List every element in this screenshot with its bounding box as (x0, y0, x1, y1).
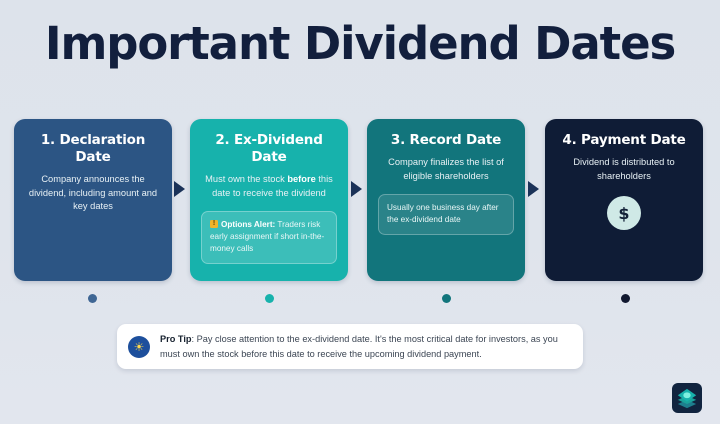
card-title: 4. Payment Date (556, 132, 692, 149)
card-title: 1. Declaration Date (25, 132, 161, 166)
warning-icon (210, 220, 218, 228)
arrow-right-icon-2 (351, 181, 362, 197)
infographic-canvas: Important Dividend Dates 1. Declaration … (0, 0, 720, 424)
card-title: 2. Ex-Dividend Date (201, 132, 337, 166)
step-dot-2 (265, 294, 274, 303)
card-ex-dividend-date[interactable]: 2. Ex-Dividend Date Must own the stock b… (190, 119, 348, 281)
note-label: Options Alert: (221, 220, 275, 229)
arrow-right-icon-1 (174, 181, 185, 197)
pro-tip-banner: ☀ Pro Tip: Pay close attention to the ex… (117, 324, 583, 369)
card-description: Company announces the dividend, includin… (25, 173, 161, 214)
card-description: Company finalizes the list of eligible s… (378, 156, 514, 183)
card-title: 3. Record Date (378, 132, 514, 149)
pro-tip-body: Pay close attention to the ex-dividend d… (160, 334, 558, 359)
logo-glyph (676, 387, 698, 409)
timeline-cards: 1. Declaration Date Company announces th… (0, 119, 720, 281)
pro-tip-text: Pro Tip: Pay close attention to the ex-d… (160, 332, 569, 361)
step-dot-4 (621, 294, 630, 303)
options-alert-note: Options Alert: Traders risk early assign… (201, 211, 337, 264)
pro-tip-label: Pro Tip (160, 334, 191, 344)
lightbulb-icon: ☀ (128, 336, 150, 358)
page-title: Important Dividend Dates (0, 18, 720, 70)
card-description: Dividend is distributed to shareholders (556, 156, 692, 183)
step-dot-3 (442, 294, 451, 303)
card-payment-date[interactable]: 4. Payment Date Dividend is distributed … (545, 119, 703, 281)
desc-prefix: Must own the stock (205, 174, 287, 184)
card-record-date[interactable]: 3. Record Date Company finalizes the lis… (367, 119, 525, 281)
dollar-badge-icon: $ (607, 196, 641, 230)
stacked-hexagon-logo (672, 383, 702, 413)
arrow-right-icon-3 (528, 181, 539, 197)
card-description: Must own the stock before this date to r… (201, 173, 337, 200)
record-date-note: Usually one business day after the ex-di… (378, 194, 514, 235)
card-declaration-date[interactable]: 1. Declaration Date Company announces th… (14, 119, 172, 281)
step-dot-1 (88, 294, 97, 303)
desc-emphasis: before (287, 174, 315, 184)
